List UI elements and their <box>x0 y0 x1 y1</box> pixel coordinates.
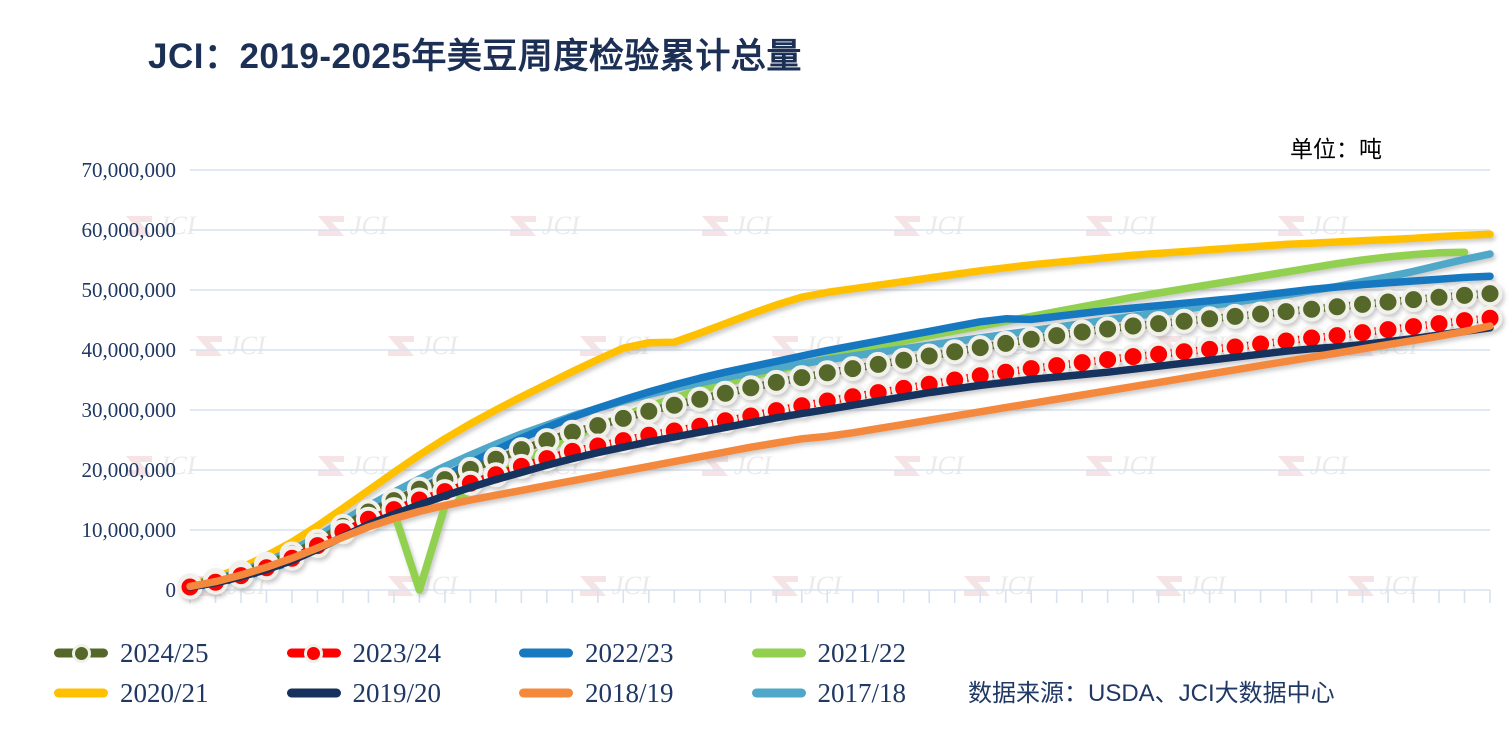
watermark-jci: JCI <box>964 571 1035 600</box>
watermark-text: JCI <box>1310 451 1349 480</box>
legend-item-label: 2018/19 <box>585 678 674 709</box>
watermark-text: JCI <box>1118 451 1157 480</box>
legend-item-2018-19[interactable]: 2018/19 <box>513 673 746 713</box>
y-axis-tick-label: 50,000,000 <box>82 278 177 302</box>
legend-item-label: 2023/24 <box>353 638 442 669</box>
series-marker <box>1174 311 1195 332</box>
watermark-jci: JCI <box>318 211 389 240</box>
legend-swatch-icon <box>48 642 114 664</box>
series-marker <box>1097 349 1118 370</box>
watermark-jci: JCI <box>1086 451 1157 480</box>
legend-item-label: 2019/20 <box>353 678 442 709</box>
watermark-jci: JCI <box>772 571 843 600</box>
watermark-text: JCI <box>926 211 965 240</box>
watermark-text: JCI <box>804 571 843 600</box>
series-marker <box>638 401 659 422</box>
watermark-jci: JCI <box>1086 211 1157 240</box>
watermark-text: JCI <box>350 211 389 240</box>
series-marker <box>1352 294 1373 315</box>
watermark-logo-icon <box>580 576 606 596</box>
series-marker <box>1123 346 1144 367</box>
watermark-text: JCI <box>542 211 581 240</box>
y-axis-tick-label: 0 <box>166 578 177 602</box>
watermark-logo-icon <box>894 216 920 236</box>
legend-swatch-icon <box>513 642 579 664</box>
watermark-text: JCI <box>734 211 773 240</box>
watermark-jci: JCI <box>894 451 965 480</box>
series-marker <box>1072 352 1093 373</box>
watermark-jci: JCI <box>894 211 965 240</box>
watermark-logo-icon <box>702 216 728 236</box>
legend-item-2017-18[interactable]: 2017/18 <box>746 673 979 713</box>
watermark-logo-icon <box>1086 456 1112 476</box>
watermark-jci: JCI <box>1278 211 1349 240</box>
watermark-text: JCI <box>926 451 965 480</box>
legend-item-2021-22[interactable]: 2021/22 <box>746 633 979 673</box>
series-marker <box>1378 319 1399 340</box>
legend-item-2024-25[interactable]: 2024/25 <box>48 633 281 673</box>
series-marker <box>1148 313 1169 334</box>
legend-item-label: 2017/18 <box>818 678 907 709</box>
series-marker <box>1378 292 1399 313</box>
legend-swatch-icon <box>746 682 812 704</box>
series-marker <box>1276 301 1297 322</box>
watermark-text: JCI <box>1310 211 1349 240</box>
watermark-logo-icon <box>388 576 414 596</box>
chart-legend: 2024/252023/242022/232021/222020/212019/… <box>48 633 978 713</box>
series-marker <box>587 415 608 436</box>
series-marker <box>1403 289 1424 310</box>
legend-swatch-icon <box>281 682 347 704</box>
series-marker <box>1097 319 1118 340</box>
watermark-text: JCI <box>228 331 267 360</box>
series-2021-22[interactable] <box>190 252 1465 590</box>
watermark-jci: JCI <box>1156 571 1227 600</box>
legend-swatch-icon <box>281 642 347 664</box>
watermark-jci: JCI <box>196 331 267 360</box>
watermark-text: JCI <box>996 571 1035 600</box>
series-marker <box>995 333 1016 354</box>
legend-swatch-icon <box>48 682 114 704</box>
series-line-2021-22 <box>190 252 1465 590</box>
watermark-logo-icon <box>1278 216 1304 236</box>
source-note: 数据来源：USDA、JCI大数据中心 <box>968 673 1335 708</box>
watermark-jci: JCI <box>1278 451 1349 480</box>
watermark-logo-icon <box>196 336 222 356</box>
y-axis-tick-label: 40,000,000 <box>82 338 177 362</box>
series-marker <box>613 408 634 429</box>
watermark-logo-icon <box>772 336 798 356</box>
series-layer <box>180 234 1501 597</box>
legend-marker-icon <box>72 644 91 663</box>
series-marker <box>689 389 710 410</box>
watermark-logo-icon <box>318 216 344 236</box>
legend-marker-icon <box>304 644 323 663</box>
watermark-logo-icon <box>580 336 606 356</box>
watermark-logo-icon <box>1086 216 1112 236</box>
series-marker <box>868 354 889 375</box>
series-marker <box>1148 344 1169 365</box>
legend-item-label: 2024/25 <box>120 638 209 669</box>
series-marker <box>1199 308 1220 329</box>
series-marker <box>1352 322 1373 343</box>
watermark-jci: JCI <box>318 451 389 480</box>
series-marker <box>1072 322 1093 343</box>
legend-item-2023-24[interactable]: 2023/24 <box>281 633 514 673</box>
y-axis-tick-label: 70,000,000 <box>82 158 177 182</box>
series-marker <box>791 367 812 388</box>
legend-swatch-icon <box>513 682 579 704</box>
watermark-logo-icon <box>318 456 344 476</box>
series-marker <box>740 377 761 398</box>
legend-item-2022-23[interactable]: 2022/23 <box>513 633 746 673</box>
series-marker <box>1250 304 1271 325</box>
watermark-logo-icon <box>1348 576 1374 596</box>
y-axis-tick-label: 20,000,000 <box>82 458 177 482</box>
series-marker <box>1327 296 1348 317</box>
series-marker <box>715 383 736 404</box>
watermark-text: JCI <box>612 571 651 600</box>
legend-item-label: 2022/23 <box>585 638 674 669</box>
series-marker <box>766 372 787 393</box>
legend-swatch-icon <box>746 642 812 664</box>
watermark-jci: JCI <box>1348 571 1419 600</box>
y-axis-tick-label: 30,000,000 <box>82 398 177 422</box>
series-marker <box>1454 285 1475 306</box>
watermark-text: JCI <box>1118 211 1157 240</box>
watermark-text: JCI <box>1188 571 1227 600</box>
watermark-logo-icon <box>510 216 536 236</box>
series-marker <box>1225 306 1246 327</box>
legend-item-2020-21[interactable]: 2020/21 <box>48 673 281 713</box>
y-axis-tick-label: 60,000,000 <box>82 218 177 242</box>
series-marker <box>1123 316 1144 337</box>
watermark-jci: JCI <box>702 211 773 240</box>
series-marker <box>944 341 965 362</box>
watermark-jci: JCI <box>580 571 651 600</box>
legend-item-label: 2020/21 <box>120 678 209 709</box>
chart-plot-area: JCIJCIJCIJCIJCIJCIJCIJCIJCIJCIJCIJCIJCIJ… <box>0 0 1512 740</box>
watermark-jci: JCI <box>510 211 581 240</box>
series-marker <box>1301 299 1322 320</box>
watermark-text: JCI <box>734 451 773 480</box>
watermark-logo-icon <box>388 336 414 356</box>
watermark-logo-icon <box>1156 576 1182 596</box>
y-axis-tick-label: 10,000,000 <box>82 518 177 542</box>
watermark-logo-icon <box>894 456 920 476</box>
watermark-logo-icon <box>1278 456 1304 476</box>
series-marker <box>1046 325 1067 346</box>
series-marker <box>919 346 940 367</box>
line-chart-svg: JCIJCIJCIJCIJCIJCIJCIJCIJCIJCIJCIJCIJCIJ… <box>0 0 1512 740</box>
series-marker <box>664 395 685 416</box>
watermark-logo-icon <box>964 576 990 596</box>
series-marker <box>893 350 914 371</box>
legend-item-label: 2021/22 <box>818 638 907 669</box>
legend-item-2019-20[interactable]: 2019/20 <box>281 673 514 713</box>
series-marker <box>817 362 838 383</box>
watermark-text: JCI <box>420 331 459 360</box>
series-marker <box>1480 283 1501 304</box>
watermark-jci: JCI <box>388 331 459 360</box>
series-marker <box>1429 287 1450 308</box>
series-marker <box>1021 329 1042 350</box>
series-marker <box>970 337 991 358</box>
series-marker <box>842 358 863 379</box>
